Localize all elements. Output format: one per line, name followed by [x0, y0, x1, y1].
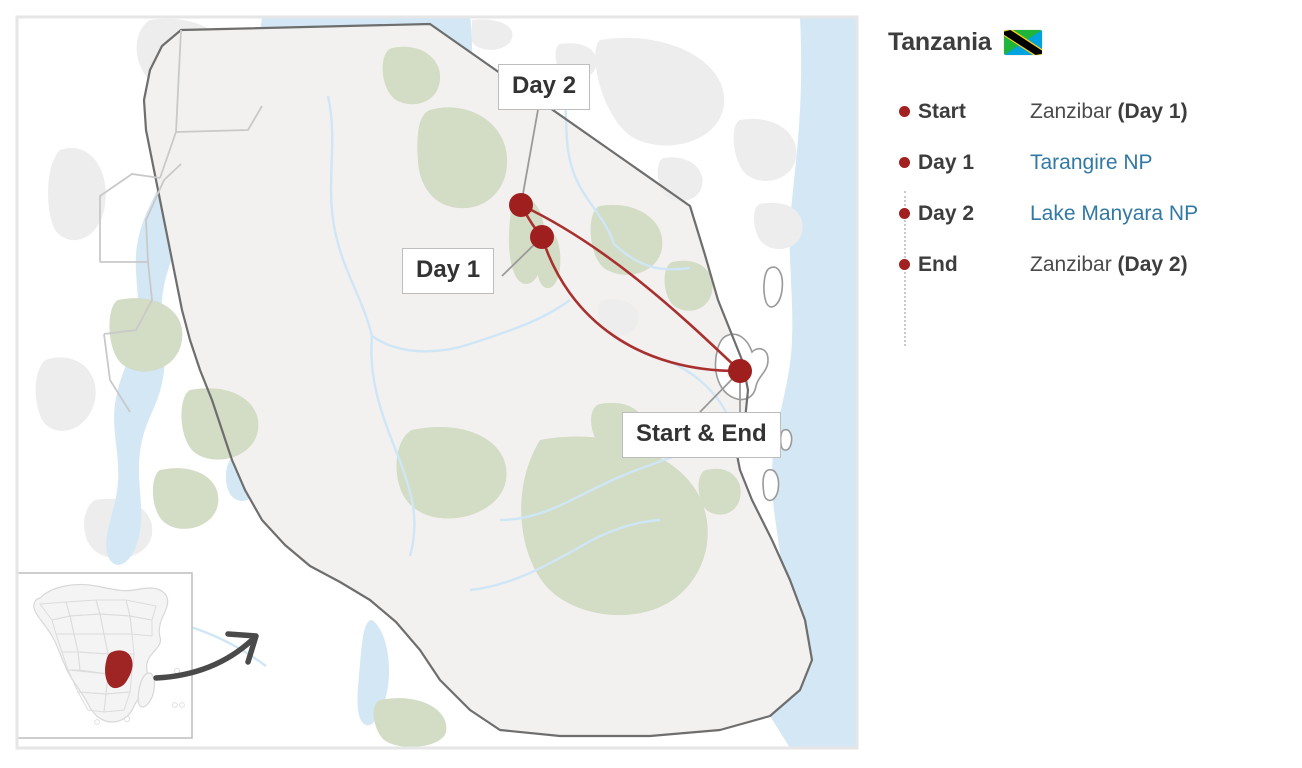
- legend-panel: Tanzania Start Zanzibar (Day 1): [884, 0, 1302, 768]
- map-label-day-2[interactable]: Day 2: [498, 64, 590, 110]
- legend-dot-icon: [899, 106, 910, 117]
- legend-item-day-1[interactable]: Day 1 Tarangire NP: [888, 137, 1298, 188]
- legend-item-end[interactable]: End Zanzibar (Day 2): [888, 239, 1298, 290]
- legend-place-text[interactable]: Tarangire NP: [1030, 151, 1153, 175]
- legend-item-start[interactable]: Start Zanzibar (Day 1): [888, 86, 1298, 137]
- map-label-day-1[interactable]: Day 1: [402, 248, 494, 294]
- start-end-marker: [728, 359, 752, 383]
- legend-place-text: Zanzibar (Day 1): [1030, 100, 1188, 124]
- legend-dot-icon: [899, 208, 910, 219]
- legend-item-list: Start Zanzibar (Day 1) Day 1 Tarangire N…: [888, 86, 1298, 290]
- legend-day-label: Start: [918, 100, 1030, 124]
- legend-bullet-cell: [888, 86, 918, 137]
- legend-bullet-cell: [888, 188, 918, 239]
- legend-place-suffix: (Day 2): [1112, 253, 1188, 276]
- legend-day-label: Day 1: [918, 151, 1030, 175]
- tanzania-flag-icon: [1004, 30, 1042, 55]
- legend-place-name[interactable]: Lake Manyara NP: [1030, 202, 1198, 225]
- legend-place-text[interactable]: Lake Manyara NP: [1030, 202, 1198, 226]
- legend-place-name[interactable]: Tarangire NP: [1030, 151, 1153, 174]
- map-label-start-and-end[interactable]: Start & End: [622, 412, 781, 458]
- legend-bullet-cell: [888, 137, 918, 188]
- legend-place-text: Zanzibar (Day 2): [1030, 253, 1188, 277]
- legend-dot-icon: [899, 157, 910, 168]
- africa-locator-inset: [17, 573, 192, 738]
- day-1-marker: [530, 225, 554, 249]
- day-2-marker: [509, 193, 533, 217]
- legend-header: Tanzania: [888, 28, 1042, 57]
- legend-title: Tanzania: [888, 28, 992, 57]
- legend-place-name: Zanzibar: [1030, 253, 1112, 276]
- legend-place-name: Zanzibar: [1030, 100, 1112, 123]
- legend-bullet-cell: [888, 239, 918, 290]
- legend-item-day-2[interactable]: Day 2 Lake Manyara NP: [888, 188, 1298, 239]
- legend-dot-icon: [899, 259, 910, 270]
- map-canvas[interactable]: [0, 0, 868, 768]
- map-panel[interactable]: Day 2 Day 1 Start & End: [0, 0, 868, 768]
- itinerary-map-page: Day 2 Day 1 Start & End Tanzania: [0, 0, 1302, 768]
- legend-day-label: Day 2: [918, 202, 1030, 226]
- legend-place-suffix: (Day 1): [1112, 100, 1188, 123]
- legend-day-label: End: [918, 253, 1030, 277]
